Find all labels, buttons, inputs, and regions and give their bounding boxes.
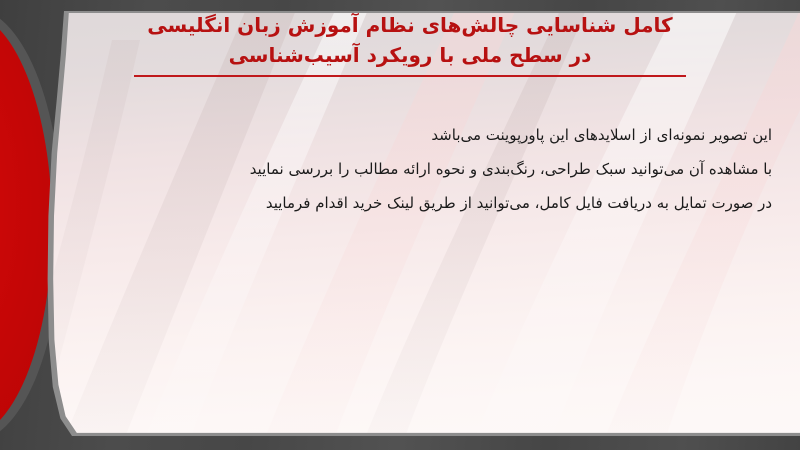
presentation-slide: کامل شناسایی چالش‌های نظام آموزش زبان ان… [0, 0, 800, 450]
slide-body-text: این تصویر نمونه‌ای از اسلایدهای این پاور… [52, 118, 772, 220]
slide-title: کامل شناسایی چالش‌های نظام آموزش زبان ان… [60, 10, 760, 70]
body-line-1: این تصویر نمونه‌ای از اسلایدهای این پاور… [52, 118, 772, 152]
body-line-3: در صورت تمایل به دریافت فایل کامل، می‌تو… [52, 186, 772, 220]
title-line-1: کامل شناسایی چالش‌های نظام آموزش زبان ان… [60, 10, 760, 40]
title-underline-rule [134, 75, 686, 77]
title-line-2: در سطح ملی با رویکرد آسیب‌شناسی [60, 40, 760, 70]
body-line-2: با مشاهده آن می‌توانید سبک طراحی، رنگ‌بن… [52, 152, 772, 186]
